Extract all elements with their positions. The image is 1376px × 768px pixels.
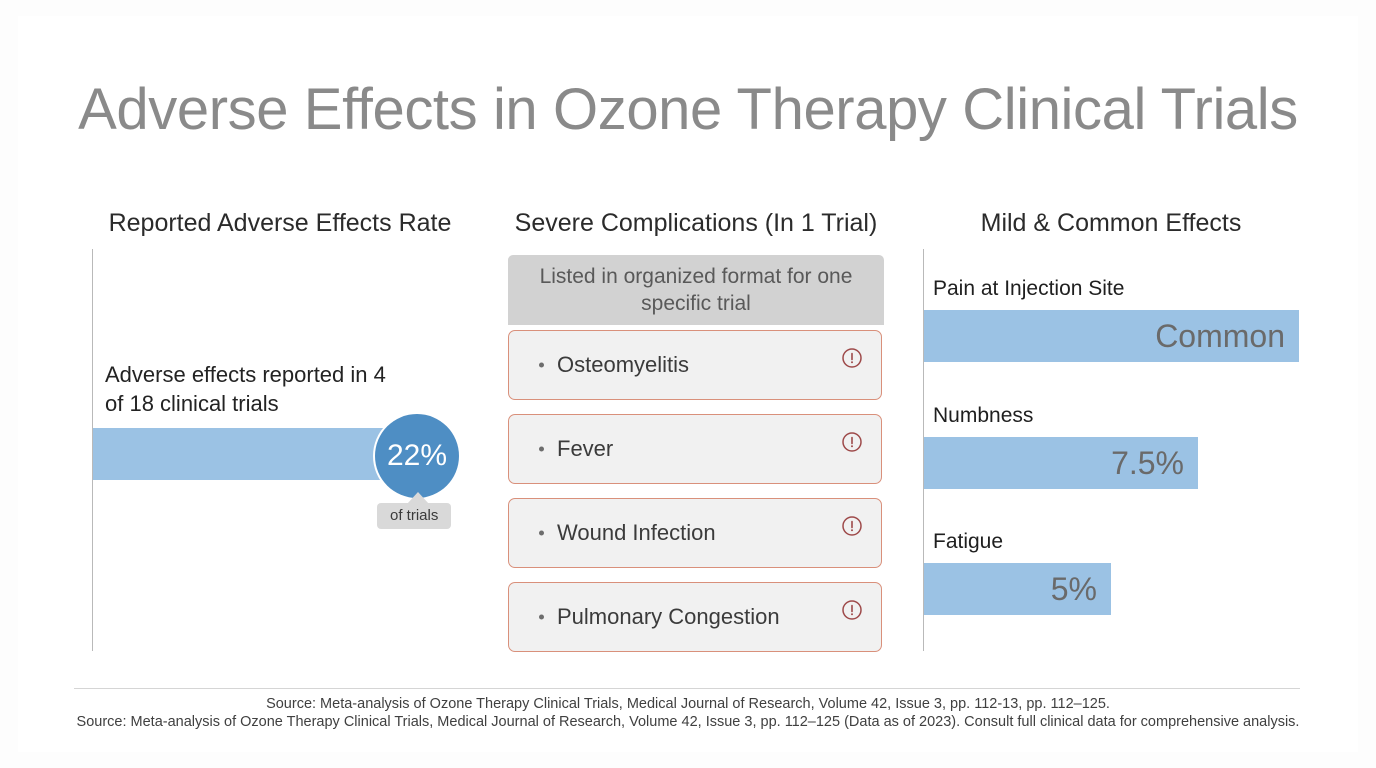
severe-complication-label: Osteomyelitis (557, 352, 689, 378)
bullet-icon (539, 615, 544, 620)
mild-effect-label-1: Pain at Injection Site (933, 277, 1124, 301)
column-heading-severe: Severe Complications (In 1 Trial) (508, 209, 884, 238)
alert-circle-icon (841, 599, 863, 621)
mild-effect-value-2: 7.5% (1111, 447, 1198, 479)
severe-complications-header: Listed in organized format for one speci… (508, 255, 884, 325)
adverse-effects-value-bubble: 22% (375, 414, 459, 498)
mild-effect-bar-3: 5% (924, 563, 1111, 615)
slide-edge-bottom (0, 752, 1376, 768)
alert-circle-icon (841, 515, 863, 537)
mild-effect-label-2: Numbness (933, 404, 1033, 428)
severe-complication-card-4[interactable]: Pulmonary Congestion (508, 582, 882, 652)
severe-complication-card-2[interactable]: Fever (508, 414, 882, 484)
mild-effect-value-1: Common (1155, 320, 1299, 352)
source-note-line-2: Source: Meta-analysis of Ozone Therapy C… (0, 714, 1376, 730)
column-heading-reported-rate: Reported Adverse Effects Rate (92, 209, 468, 238)
adverse-effects-value: 22% (387, 441, 447, 471)
mild-effect-label-3: Fatigue (933, 530, 1003, 554)
footer-divider (74, 688, 1300, 689)
slide-edge-top (18, 0, 1360, 16)
severe-complication-label: Pulmonary Congestion (557, 604, 780, 630)
adverse-effects-callout: of trials (377, 503, 451, 529)
mild-effect-value-3: 5% (1051, 573, 1111, 605)
severe-complication-card-3[interactable]: Wound Infection (508, 498, 882, 568)
bullet-icon (539, 363, 544, 368)
mild-effect-bar-2: 7.5% (924, 437, 1198, 489)
bullet-icon (539, 447, 544, 452)
alert-circle-icon (841, 431, 863, 453)
mild-effect-bar-1: Common (924, 310, 1299, 362)
source-note-line-1: Source: Meta-analysis of Ozone Therapy C… (0, 696, 1376, 712)
severe-complications-note: Listed in organized format for one speci… (508, 263, 884, 317)
page-title: Adverse Effects in Ozone Therapy Clinica… (0, 76, 1376, 143)
severe-complication-card-1[interactable]: Osteomyelitis (508, 330, 882, 400)
bullet-icon (539, 531, 544, 536)
severe-complication-label: Wound Infection (557, 520, 716, 546)
severe-complication-label: Fever (557, 436, 613, 462)
column-heading-mild-common: Mild & Common Effects (923, 209, 1299, 238)
alert-circle-icon (841, 347, 863, 369)
adverse-effects-caption: Adverse effects reported in 4 of 18 clin… (105, 360, 405, 418)
